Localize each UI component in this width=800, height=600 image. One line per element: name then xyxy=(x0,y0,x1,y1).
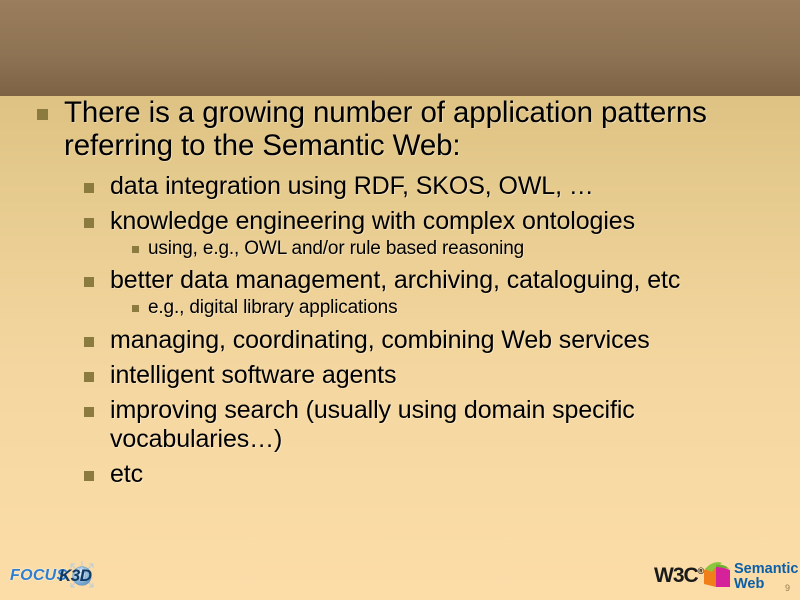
bullet-item-level-2: data integration using RDF, SKOS, OWL, … xyxy=(74,172,760,201)
square-bullet-icon xyxy=(84,372,94,382)
square-bullet-icon xyxy=(132,305,139,312)
bullet-list-level-3: e.g., digital library applications xyxy=(110,297,760,319)
bullet-text: managing, coordinating, combining Web se… xyxy=(110,326,650,354)
bullet-text: etc xyxy=(110,460,143,488)
bullet-item-level-2: intelligent software agents xyxy=(74,361,760,390)
bullet-list-level-2: data integration using RDF, SKOS, OWL, …… xyxy=(64,172,760,489)
bullet-list-level-1: There is a growing number of application… xyxy=(0,96,800,489)
w3c-semantic-web-logo: W3C® Semantic Web 9 xyxy=(654,556,794,596)
square-bullet-icon xyxy=(84,277,94,287)
bullet-text: better data management, archiving, catal… xyxy=(110,266,680,294)
bullet-text: knowledge engineering with complex ontol… xyxy=(110,207,635,235)
bullet-list-level-3: using, e.g., OWL and/or rule based reaso… xyxy=(110,238,760,260)
bullet-item-level-2: improving search (usually using domain s… xyxy=(74,396,760,454)
bullet-item-level-3: using, e.g., OWL and/or rule based reaso… xyxy=(122,238,760,260)
bullet-item-level-2: better data management, archiving, catal… xyxy=(74,266,760,319)
bullet-text: There is a growing number of application… xyxy=(64,96,707,162)
bullet-item-level-3: e.g., digital library applications xyxy=(122,297,760,319)
focus-k3d-logo: FOCUS K3D xyxy=(4,556,124,594)
square-bullet-icon xyxy=(37,109,48,120)
bullet-item-level-2: managing, coordinating, combining Web se… xyxy=(74,326,760,355)
square-bullet-icon xyxy=(84,183,94,193)
w3c-label: W3C xyxy=(654,564,698,587)
slide-top-banner xyxy=(0,0,800,96)
bullet-item-level-1: There is a growing number of application… xyxy=(15,96,760,489)
semantic-web-cube-icon xyxy=(702,561,732,591)
page-number: 9 xyxy=(785,583,790,593)
bullet-text: using, e.g., OWL and/or rule based reaso… xyxy=(148,238,524,259)
k3d-wordmark: K3D xyxy=(59,566,92,586)
bullet-item-level-2: knowledge engineering with complex ontol… xyxy=(74,207,760,260)
semantic-label: Semantic xyxy=(734,561,798,577)
bullet-item-level-2: etc xyxy=(74,460,760,489)
square-bullet-icon xyxy=(132,246,139,253)
bullet-text: intelligent software agents xyxy=(110,361,396,389)
square-bullet-icon xyxy=(84,337,94,347)
web-label: Web xyxy=(734,576,764,592)
square-bullet-icon xyxy=(84,407,94,417)
bullet-text: e.g., digital library applications xyxy=(148,297,397,318)
square-bullet-icon xyxy=(84,218,94,228)
slide: There is a growing number of application… xyxy=(0,0,800,600)
bullet-text: improving search (usually using domain s… xyxy=(110,396,635,453)
w3c-wordmark: W3C® xyxy=(654,564,703,588)
slide-content: There is a growing number of application… xyxy=(0,96,800,495)
square-bullet-icon xyxy=(84,471,94,481)
bullet-text: data integration using RDF, SKOS, OWL, … xyxy=(110,172,594,200)
